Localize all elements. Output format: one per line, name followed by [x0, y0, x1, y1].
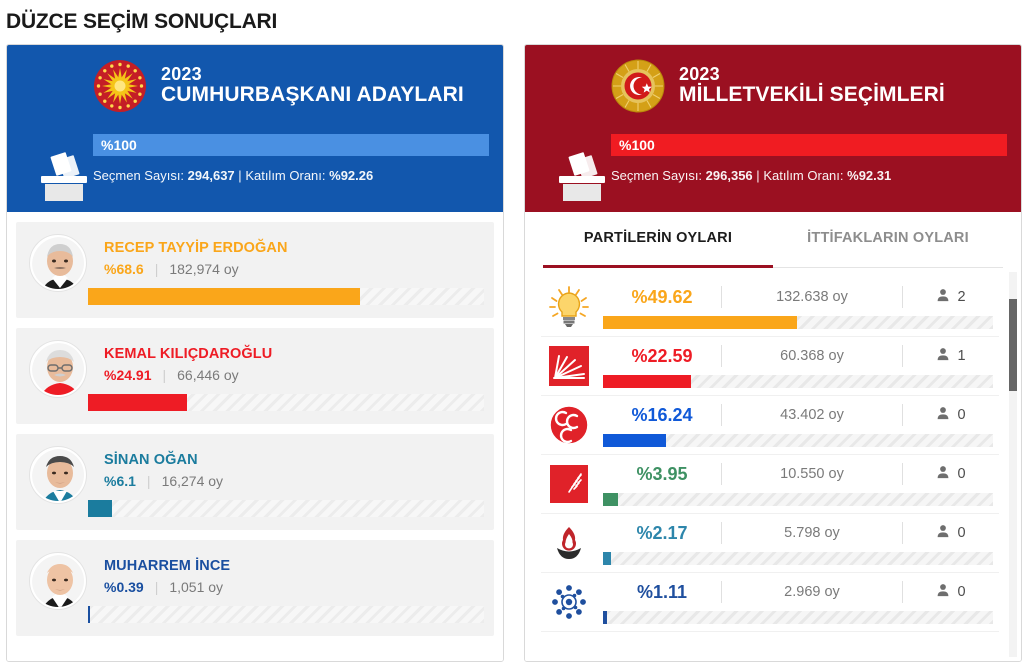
voters-value: 296,356: [706, 168, 753, 183]
candidate-percent: %68.6: [104, 261, 144, 277]
party-seats: 0: [903, 583, 999, 601]
turnout-label: Katılım Oranı:: [245, 168, 325, 183]
party-info: %2.17 5.798 oy 0: [603, 518, 999, 548]
candidate-name: MUHARREM İNCE: [104, 558, 230, 574]
page-title: DÜZCE SEÇİM SONUÇLARI: [0, 0, 1032, 44]
scrollbar-thumb[interactable]: [1009, 299, 1017, 391]
candidate-bar-track: [88, 288, 484, 305]
party-bar-track: [603, 434, 993, 447]
party-list-scrollbar[interactable]: [1009, 272, 1017, 657]
ince-avatar: [30, 553, 86, 609]
party-bar-track: [603, 611, 993, 624]
party-percent: %22.59: [603, 346, 721, 367]
ogan-avatar: [30, 447, 86, 503]
party-row[interactable]: %2.17 5.798 oy 0: [541, 514, 999, 573]
turnout-value: %92.26: [329, 168, 373, 183]
turkish-presidency-seal-icon: [93, 59, 147, 113]
tip-torch-icon: [547, 521, 591, 565]
candidate-numbers: %68.6 | 182,974 oy: [104, 261, 288, 277]
election-name: MİLLETVEKİLİ SEÇİMLERİ: [679, 84, 945, 106]
party-bar-fill: [603, 375, 691, 388]
party-info: %1.11 2.969 oy 0: [603, 577, 999, 607]
party-seat-count: 2: [957, 289, 965, 305]
mhp-crescents-icon: [547, 403, 591, 447]
voters-value: 294,637: [188, 168, 235, 183]
party-bar-track: [603, 375, 993, 388]
party-seat-count: 0: [957, 584, 965, 600]
candidate-name: RECEP TAYYİP ERDOĞAN: [104, 240, 288, 256]
turnout-value: %92.31: [847, 168, 891, 183]
party-bar-fill: [603, 434, 666, 447]
kilicdaroglu-avatar: [30, 341, 86, 397]
candidate-bar-track: [88, 500, 484, 517]
party-seats: 0: [903, 465, 999, 483]
party-seats: 0: [903, 524, 999, 542]
person-icon: [936, 288, 950, 306]
party-bar-track: [603, 493, 993, 506]
presidential-header: 2023 CUMHURBAŞKANI ADAYLARI %100: [7, 45, 503, 212]
candidate-divider: |: [162, 367, 166, 383]
candidate-votes: 1,051 oy: [169, 579, 223, 595]
party-seat-count: 0: [957, 525, 965, 541]
candidate-info: SİNAN OĞAN %6.1 | 16,274 oy: [104, 452, 223, 489]
presidential-header-top: 2023 CUMHURBAŞKANI ADAYLARI: [21, 57, 489, 115]
party-bar-fill: [603, 316, 797, 329]
candidate-bar-fill: [88, 288, 360, 305]
party-votes: 5.798 oy: [722, 525, 902, 541]
party-seat-count: 0: [957, 466, 965, 482]
party-row[interactable]: %49.62 132.638 oy 2: [541, 278, 999, 337]
candidate-row[interactable]: MUHARREM İNCE %0.39 | 1,051 oy: [16, 540, 494, 636]
party-votes: 10.550 oy: [722, 466, 902, 482]
candidate-numbers: %6.1 | 16,274 oy: [104, 473, 223, 489]
candidate-name: KEMAL KILIÇDAROĞLU: [104, 346, 272, 362]
candidate-percent: %24.91: [104, 367, 151, 383]
party-list: %49.62 132.638 oy 2: [525, 268, 1021, 661]
tbmm-seal-icon: [611, 59, 665, 113]
candidate-row[interactable]: SİNAN OĞAN %6.1 | 16,274 oy: [16, 434, 494, 530]
election-year: 2023: [161, 65, 464, 84]
party-seats: 0: [903, 406, 999, 424]
meta-divider: |: [756, 168, 759, 183]
ballot-box-icon: [35, 150, 91, 202]
voters-label: Seçmen Sayısı:: [93, 168, 184, 183]
parliamentary-titles: 2023 MİLLETVEKİLİ SEÇİMLERİ: [679, 65, 945, 106]
candidate-divider: |: [155, 261, 159, 277]
party-seats: 2: [903, 288, 999, 306]
party-seat-count: 0: [957, 407, 965, 423]
voters-label: Seçmen Sayısı:: [611, 168, 702, 183]
presidential-meta: Seçmen Sayısı: 294,637 | Katılım Oranı: …: [93, 168, 489, 183]
party-percent: %49.62: [603, 287, 721, 308]
candidate-row[interactable]: KEMAL KILIÇDAROĞLU %24.91 | 66,446 oy: [16, 328, 494, 424]
candidate-votes: 66,446 oy: [177, 367, 239, 383]
party-info: %3.95 10.550 oy 0: [603, 459, 999, 489]
candidate-bar-fill: [88, 394, 187, 411]
parliamentary-header-top: 2023 MİLLETVEKİLİ SEÇİMLERİ: [539, 57, 1007, 115]
counted-percent-label: %100: [101, 137, 137, 153]
election-name: CUMHURBAŞKANI ADAYLARI: [161, 84, 464, 106]
candidate-bar-fill: [88, 606, 90, 623]
party-row[interactable]: %3.95 10.550 oy 0: [541, 455, 999, 514]
party-percent: %16.24: [603, 405, 721, 426]
candidate-info: KEMAL KILIÇDAROĞLU %24.91 | 66,446 oy: [104, 346, 272, 383]
chp-rays-icon: [547, 344, 591, 388]
parliamentary-meta: Seçmen Sayısı: 296,356 | Katılım Oranı: …: [611, 168, 1007, 183]
akp-lightbulb-icon: [547, 285, 591, 329]
party-percent: %2.17: [603, 523, 721, 544]
parliamentary-body: PARTİLERİN OYLARI İTTİFAKLARIN OYLARI: [525, 212, 1021, 661]
party-votes: 2.969 oy: [722, 584, 902, 600]
person-icon: [936, 406, 950, 424]
person-icon: [936, 347, 950, 365]
yrp-crescent-wheat-icon: [547, 462, 591, 506]
candidate-divider: |: [155, 579, 159, 595]
party-seats: 1: [903, 347, 999, 365]
party-info: %49.62 132.638 oy 2: [603, 282, 999, 312]
candidate-percent: %0.39: [104, 579, 144, 595]
party-bar-fill: [603, 493, 618, 506]
candidate-list: RECEP TAYYİP ERDOĞAN %68.6 | 182,974 oy: [7, 212, 503, 661]
candidate-row[interactable]: RECEP TAYYİP ERDOĞAN %68.6 | 182,974 oy: [16, 222, 494, 318]
turnout-label: Katılım Oranı:: [763, 168, 843, 183]
candidate-bar-fill: [88, 500, 112, 517]
party-bar-track: [603, 552, 993, 565]
parliamentary-header: 2023 MİLLETVEKİLİ SEÇİMLERİ %100: [525, 45, 1021, 212]
party-votes: 132.638 oy: [722, 289, 902, 305]
counted-progress-bar: %100: [611, 134, 1007, 156]
candidate-numbers: %0.39 | 1,051 oy: [104, 579, 230, 595]
candidate-bar-track: [88, 394, 484, 411]
candidate-divider: |: [147, 473, 151, 489]
candidate-bar-track: [88, 606, 484, 623]
person-icon: [936, 583, 950, 601]
presidential-counted-row: %100: [93, 134, 489, 156]
party-row[interactable]: %16.24 43.402 oy 0: [541, 396, 999, 455]
presidential-panel: 2023 CUMHURBAŞKANI ADAYLARI %100: [6, 44, 504, 662]
candidate-votes: 16,274 oy: [162, 473, 224, 489]
party-bar-track: [603, 316, 993, 329]
candidate-percent: %6.1: [104, 473, 136, 489]
person-icon: [936, 465, 950, 483]
party-info: %16.24 43.402 oy 0: [603, 400, 999, 430]
party-info: %22.59 60.368 oy 1: [603, 341, 999, 371]
erdogan-avatar: [30, 235, 86, 291]
candidate-info: RECEP TAYYİP ERDOĞAN %68.6 | 182,974 oy: [104, 240, 288, 277]
tab-party-votes[interactable]: PARTİLERİN OYLARI: [543, 230, 773, 268]
tab-alliance-votes[interactable]: İTTİFAKLARIN OYLARI: [773, 230, 1003, 268]
candidate-name: SİNAN OĞAN: [104, 452, 223, 468]
person-icon: [936, 524, 950, 542]
candidate-numbers: %24.91 | 66,446 oy: [104, 367, 272, 383]
counted-percent-label: %100: [619, 137, 655, 153]
party-votes: 60.368 oy: [722, 348, 902, 364]
candidate-info: MUHARREM İNCE %0.39 | 1,051 oy: [104, 558, 230, 595]
party-percent: %3.95: [603, 464, 721, 485]
results-columns: 2023 CUMHURBAŞKANI ADAYLARI %100: [0, 44, 1032, 662]
party-votes: 43.402 oy: [722, 407, 902, 423]
candidate-votes: 182,974 oy: [169, 261, 238, 277]
presidential-titles: 2023 CUMHURBAŞKANI ADAYLARI: [161, 65, 464, 106]
parliamentary-counted-row: %100: [611, 134, 1007, 156]
party-bar-fill: [603, 611, 607, 624]
party-seat-count: 1: [957, 348, 965, 364]
counted-progress-bar: %100: [93, 134, 489, 156]
ysp-dots-icon: [547, 580, 591, 624]
meta-divider: |: [238, 168, 241, 183]
party-row[interactable]: %22.59 60.368 oy 1: [541, 337, 999, 396]
parliamentary-panel: 2023 MİLLETVEKİLİ SEÇİMLERİ %100: [524, 44, 1022, 662]
party-row[interactable]: %1.11 2.969 oy 0: [541, 573, 999, 632]
party-bar-fill: [603, 552, 611, 565]
election-year: 2023: [679, 65, 945, 84]
party-percent: %1.11: [603, 582, 721, 603]
ballot-box-icon: [553, 150, 609, 202]
vote-view-tabs: PARTİLERİN OYLARI İTTİFAKLARIN OYLARI: [525, 212, 1021, 268]
